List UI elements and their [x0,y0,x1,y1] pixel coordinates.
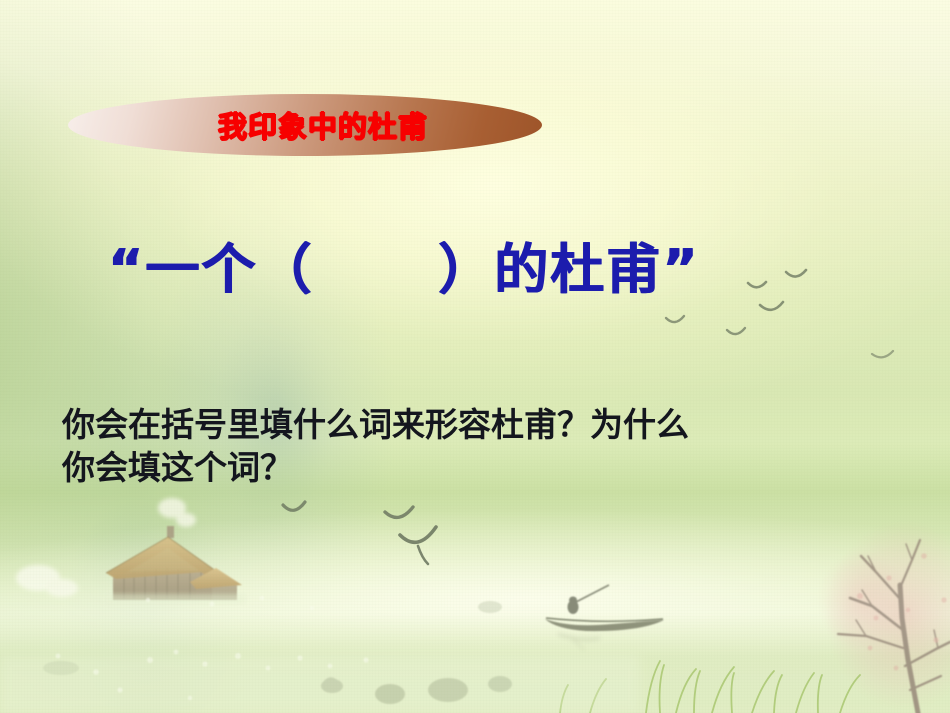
bird [666,316,684,322]
bird [727,328,745,334]
bird [400,527,436,564]
bird [748,282,766,287]
ground-mist [0,655,640,713]
banner-title-text: 我印象中的杜甫 [68,94,542,156]
prompt-line-1: 你会在括号里填什么词来形容杜甫？为什么 [62,404,882,447]
bird [786,270,806,277]
bird [283,502,305,510]
main-heading: “一个（ ）的杜甫” [108,240,700,299]
bird [385,507,413,517]
bird [872,351,893,357]
thatched-hut [106,526,246,604]
fisherman-in-boat [545,585,664,650]
slide-canvas: 我印象中的杜甫 “一个（ ）的杜甫” 你会在括号里填什么词来形容杜甫？为什么 你… [0,0,950,713]
prompt-line-2: 你会填这个词？ [62,447,882,490]
foreground-grass [560,661,860,713]
wildflower-speckles [56,596,369,700]
bird [760,302,783,310]
foreground-stones [43,601,512,704]
title-banner: 我印象中的杜甫 [68,94,542,156]
prompt-text-block: 你会在括号里填什么词来形容杜甫？为什么 你会填这个词？ [62,404,882,490]
blossom-cluster-left [16,498,196,597]
blossom-tree [817,520,950,713]
